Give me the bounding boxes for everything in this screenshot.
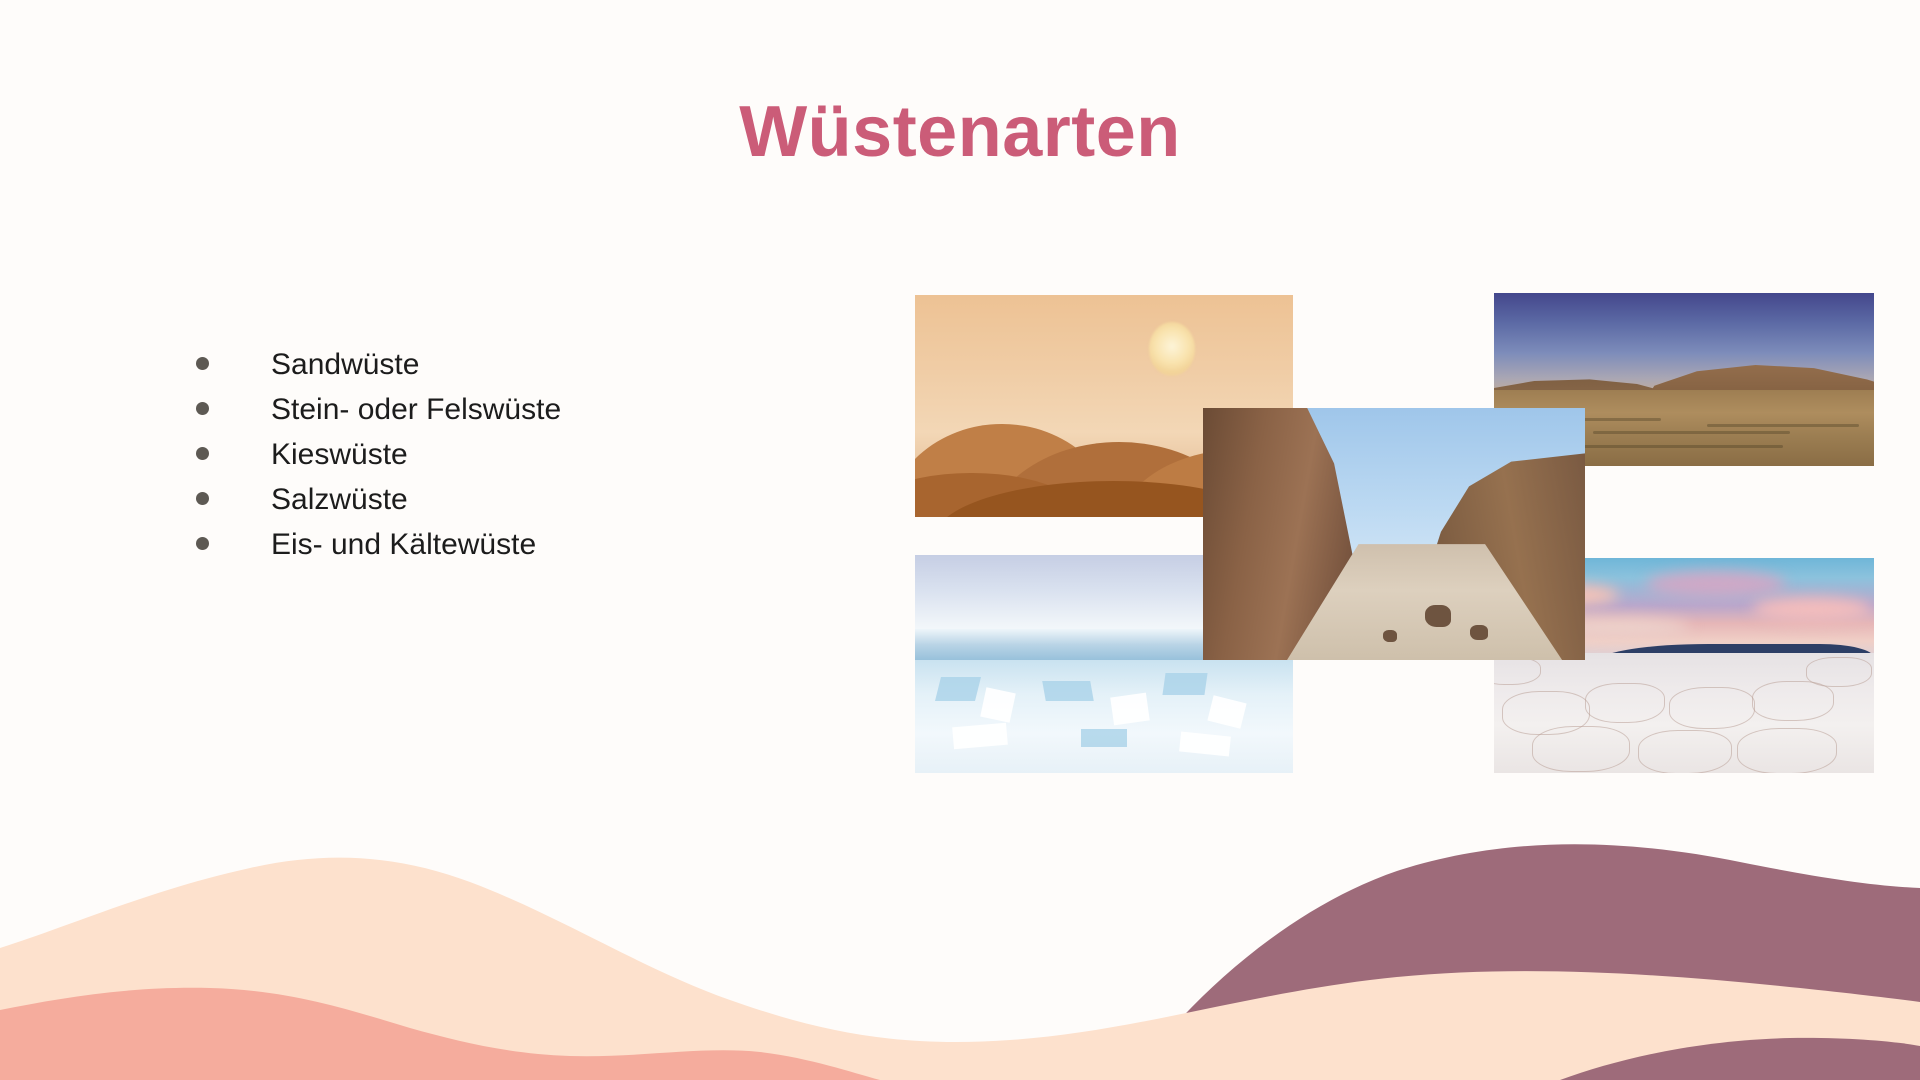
sand-dunes-photo <box>915 295 1293 517</box>
list-item-label: Eis- und Kältewüste <box>271 528 536 562</box>
bullet-dot-icon <box>196 447 209 460</box>
salt-cloud <box>1752 597 1872 621</box>
decorative-waves <box>0 680 1920 1080</box>
dune-shape <box>983 442 1255 517</box>
list-item-label: Kieswüste <box>271 438 408 472</box>
list-item-label: Salzwüste <box>271 483 408 517</box>
list-item-label: Sandwüste <box>271 348 419 382</box>
list-item-label: Stein- oder Felswüste <box>271 393 561 427</box>
bullet-dot-icon <box>196 402 209 415</box>
desert-types-list: Sandwüste Stein- oder Felswüste Kieswüst… <box>196 348 816 573</box>
list-item: Eis- und Kältewüste <box>196 528 816 573</box>
gravel-ground <box>1494 390 1874 466</box>
sun-icon <box>1149 322 1195 376</box>
bullet-dot-icon <box>196 492 209 505</box>
list-item: Salzwüste <box>196 483 816 528</box>
gravel-desert-photo <box>1494 293 1874 466</box>
salt-distant-ridge <box>1600 644 1874 661</box>
list-item: Stein- oder Felswüste <box>196 393 816 438</box>
canyon-wall-left <box>1203 408 1371 660</box>
ice-sky <box>915 555 1293 633</box>
canyon-wall-right <box>1409 453 1585 660</box>
canyon-boulder <box>1425 605 1451 627</box>
dune-shape <box>915 473 1104 517</box>
page-title: Wüstenarten <box>0 96 1920 168</box>
mesa-shape <box>1494 373 1673 411</box>
bullet-dot-icon <box>196 357 209 370</box>
ice-horizon-band <box>915 629 1293 664</box>
salt-sky <box>1494 558 1874 657</box>
dune-shape <box>915 424 1119 517</box>
dune-shape <box>934 481 1293 517</box>
sand-sky <box>915 295 1293 517</box>
canyon-floor <box>1287 544 1562 660</box>
dune-shape <box>1112 450 1293 517</box>
canyon-boulder <box>1470 625 1488 640</box>
slide-canvas: Wüstenarten Sandwüste Stein- oder Felswü… <box>0 0 1920 1080</box>
list-item: Sandwüste <box>196 348 816 393</box>
gravel-sky <box>1494 293 1874 393</box>
gravel-streak <box>1707 424 1859 427</box>
salt-cloud <box>1646 571 1786 597</box>
gravel-streak <box>1532 445 1783 448</box>
salt-cloud <box>1509 584 1619 606</box>
list-item: Kieswüste <box>196 438 816 483</box>
canyon-sky <box>1203 408 1585 660</box>
bullet-dot-icon <box>196 537 209 550</box>
mesa-shape <box>1638 359 1874 411</box>
canyon-boulder <box>1383 630 1397 642</box>
gravel-streak <box>1509 418 1661 421</box>
gravel-streak <box>1593 431 1791 434</box>
rock-canyon-photo <box>1203 408 1585 660</box>
salt-cloud <box>1540 618 1690 636</box>
